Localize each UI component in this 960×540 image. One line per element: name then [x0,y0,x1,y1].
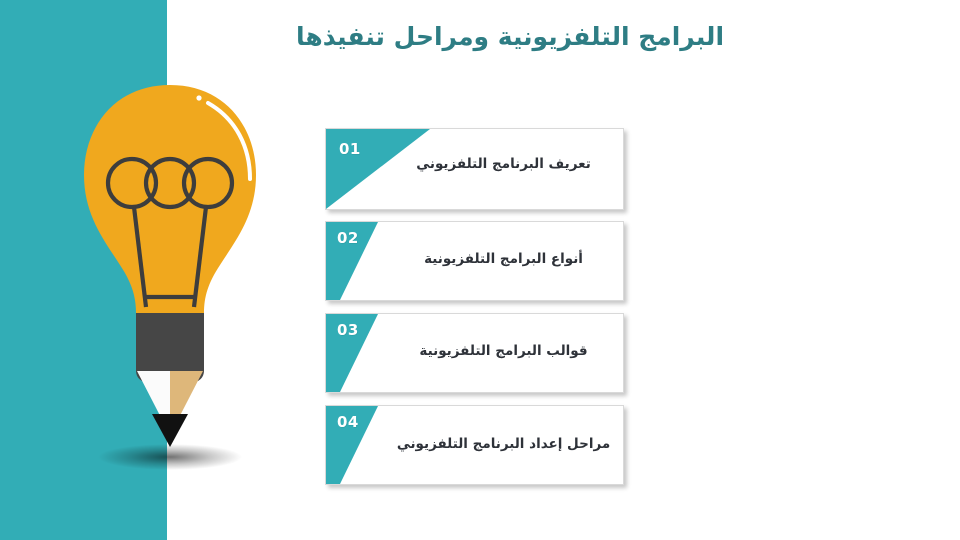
agenda-card-number: 04 [337,413,359,431]
agenda-card-label: مراحل إعداد البرنامج التلفزيوني [384,406,623,484]
agenda-card-01[interactable]: 01 تعريف البرنامج التلفزيوني [325,128,624,210]
agenda-card-label: قوالب البرامج التلفزيونية [384,314,623,392]
agenda-card-list: 01 تعريف البرنامج التلفزيوني 02 أنواع ال… [325,128,630,498]
lightbulb-pencil-illustration [60,75,310,495]
agenda-card-02[interactable]: 02 أنواع البرامج التلفزيونية [325,221,624,301]
agenda-card-label: أنواع البرامج التلفزيونية [384,222,623,300]
slide-canvas: البرامج التلفزيونية ومراحل تنفيذها [0,0,960,540]
agenda-card-label: تعريف البرنامج التلفزيوني [384,129,623,209]
agenda-card-04[interactable]: 04 مراحل إعداد البرنامج التلفزيوني [325,405,624,485]
graphite-tip [152,414,188,447]
agenda-card-number: 02 [337,229,359,247]
shadow [98,444,242,470]
agenda-card-number: 03 [337,321,359,339]
page-title: البرامج التلفزيونية ومراحل تنفيذها [200,22,820,51]
agenda-card-number: 01 [339,140,361,158]
highlight-dot [196,95,201,100]
agenda-card-03[interactable]: 03 قوالب البرامج التلفزيونية [325,313,624,393]
